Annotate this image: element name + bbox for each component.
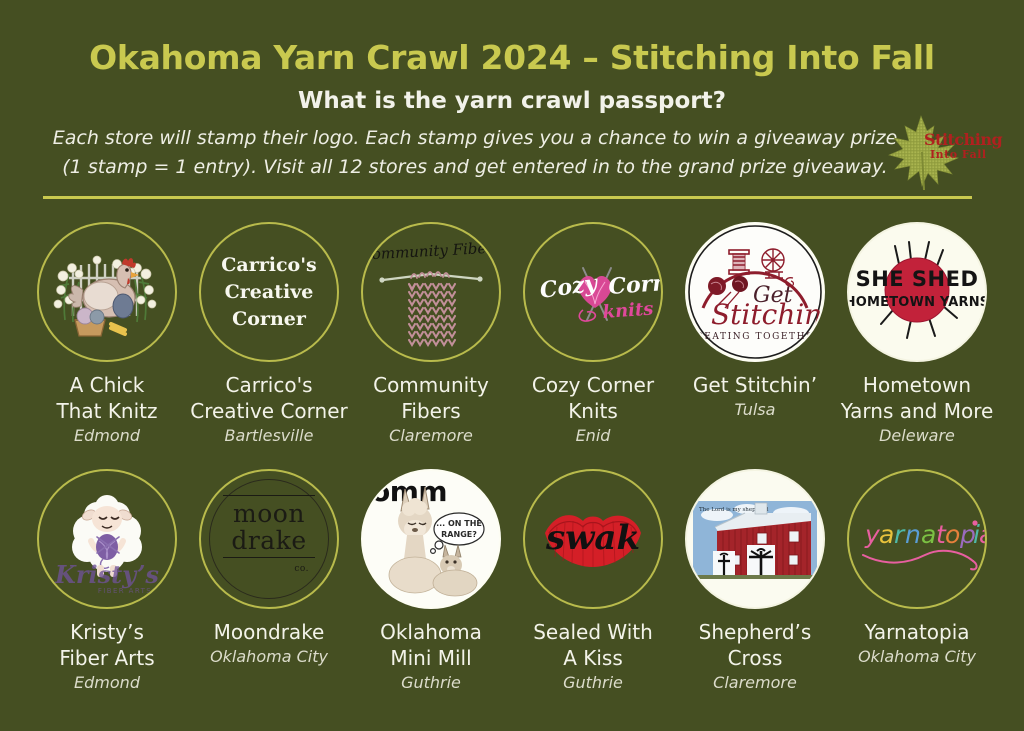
she-shed-text: SHE SHED xyxy=(856,267,979,291)
store-card-carricos-creative-corner[interactable]: Carrico's Creative Corner Carrico's Crea… xyxy=(196,222,342,447)
store-name-line-2: Mini Mill xyxy=(346,645,516,671)
swak-red-lips-icon: swak xyxy=(525,471,661,607)
store-name-line-2: Knits xyxy=(508,398,678,424)
wordmark-line-1: Carrico's xyxy=(221,252,316,279)
fall-logo-line-2: Into Fall xyxy=(924,148,994,161)
red-barn-photo-icon: The Lord is my shepherd xyxy=(687,471,823,607)
store-name-line-1: Moondrake xyxy=(184,619,354,645)
passport-description-line-1: Each store will stamp their logo. Each s… xyxy=(0,124,950,153)
store-caption: Hometown Yarns and More Deleware xyxy=(832,372,1002,447)
store-caption: Community Fibers Claremore xyxy=(346,372,516,447)
bubble-line-1: ... ON THE xyxy=(436,519,482,528)
store-name: Shepherd’s Cross xyxy=(670,619,840,671)
wordmark-line-3: Corner xyxy=(221,306,316,333)
store-name-line-2: Yarns and More xyxy=(832,398,1002,424)
store-name-line-2: Cross xyxy=(670,645,840,671)
hen-with-fence-and-flowers-icon xyxy=(39,224,175,360)
store-card-sealed-with-a-kiss[interactable]: swak Sealed With A Kiss Guthrie xyxy=(520,469,666,694)
store-logo-badge: Get Stitchin’ CREATING TOGETHER xyxy=(685,222,825,362)
page-title: Okahoma Yarn Crawl 2024 – Stitching Into… xyxy=(0,38,1024,77)
wordmark-line-3: co. xyxy=(223,556,315,583)
store-card-hometown-yarns-and-more[interactable]: SHE SHED HOMETOWN YARNS Hometown Yarns a… xyxy=(844,222,990,447)
store-card-a-chick-that-knitz[interactable]: A Chick That Knitz Edmond xyxy=(34,222,180,447)
store-name-line-2: Fibers xyxy=(346,398,516,424)
store-caption: Kristy’s Fiber Arts Edmond xyxy=(22,619,192,694)
knitting-needle-swatch-icon: Community Fibers xyxy=(363,224,499,360)
svg-text:FIBER ARTS: FIBER ARTS xyxy=(98,587,152,595)
store-logo-badge: omm ... ON THE RANGE? xyxy=(361,469,501,609)
store-name: Hometown Yarns and More xyxy=(832,372,1002,424)
store-name-line-2: Creative Corner xyxy=(184,398,354,424)
store-city: Tulsa xyxy=(670,399,840,421)
store-name-line-1: Cozy Corner xyxy=(508,372,678,398)
passport-description: Each store will stamp their logo. Each s… xyxy=(0,124,950,182)
store-logo-badge: moon drake co. xyxy=(199,469,339,609)
yarnatopia-colorful-wordmark-icon: y a r n a t o p i a xyxy=(849,471,985,607)
carricos-creative-corner-wordmark-icon: Carrico's Creative Corner xyxy=(221,252,316,333)
store-card-cozy-corner-knits[interactable]: Cozy Corner knits Cozy Corner Knits Eni xyxy=(520,222,666,447)
hometown-yarns-text: HOMETOWN YARNS xyxy=(849,295,985,310)
store-name: Sealed With A Kiss xyxy=(508,619,678,671)
store-name-line-1: Carrico's xyxy=(184,372,354,398)
store-name-line-1: A Chick xyxy=(22,372,192,398)
store-name-line-1: Sealed With xyxy=(508,619,678,645)
moondrake-rule-top xyxy=(223,495,315,496)
store-logo-badge: The Lord is my shepherd xyxy=(685,469,825,609)
store-grid: A Chick That Knitz Edmond Carrico's Crea… xyxy=(0,222,1024,694)
store-name: Yarnatopia xyxy=(832,619,1002,645)
store-name-line-1: Yarnatopia xyxy=(832,619,1002,645)
svg-text:o: o xyxy=(945,520,960,549)
store-caption: Yarnatopia Oklahoma City xyxy=(832,619,1002,668)
store-caption: Oklahoma Mini Mill Guthrie xyxy=(346,619,516,694)
poster-header: Okahoma Yarn Crawl 2024 – Stitching Into… xyxy=(0,0,1024,200)
svg-text:a: a xyxy=(921,520,936,549)
store-row-1: A Chick That Knitz Edmond Carrico's Crea… xyxy=(0,222,1024,447)
svg-text:Community Fibers: Community Fibers xyxy=(363,238,499,263)
store-name-line-1: Shepherd’s xyxy=(670,619,840,645)
store-name-line-2: A Kiss xyxy=(508,645,678,671)
store-caption: A Chick That Knitz Edmond xyxy=(22,372,192,447)
cozy-corner-knits-yarn-heart-icon: Cozy Corner knits xyxy=(525,224,661,360)
stitchin-text: Stitchin’ xyxy=(711,298,823,331)
store-city: Deleware xyxy=(832,425,1002,447)
svg-text:n: n xyxy=(905,520,921,549)
store-city: Enid xyxy=(508,425,678,447)
store-caption: Sealed With A Kiss Guthrie xyxy=(508,619,678,694)
section-subtitle: What is the yarn crawl passport? xyxy=(0,88,1024,114)
store-card-oklahoma-mini-mill[interactable]: omm ... ON THE RANGE? xyxy=(358,469,504,694)
store-name: Kristy’s Fiber Arts xyxy=(22,619,192,671)
svg-text:a: a xyxy=(979,520,985,549)
swak-text: swak xyxy=(545,518,640,558)
store-name-line-1: Community xyxy=(346,372,516,398)
store-name-line-1: Hometown xyxy=(832,372,1002,398)
knits-text: knits xyxy=(602,298,654,322)
store-city: Bartlesville xyxy=(184,425,354,447)
store-caption: Get Stitchin’ Tulsa xyxy=(670,372,840,421)
store-name-line-2: Fiber Arts xyxy=(22,645,192,671)
store-logo-badge: y a r n a t o p i a xyxy=(847,469,987,609)
store-name-line-2: That Knitz xyxy=(22,398,192,424)
fall-logo-line-1: Stitching xyxy=(924,132,994,148)
store-caption: Carrico's Creative Corner Bartlesville xyxy=(184,372,354,447)
store-city: Edmond xyxy=(22,425,192,447)
header-divider xyxy=(43,196,972,199)
store-card-community-fibers[interactable]: Community Fibers xyxy=(358,222,504,447)
store-logo-badge: Carrico's Creative Corner xyxy=(199,222,339,362)
passport-description-line-2: (1 stamp = 1 entry). Visit all 12 stores… xyxy=(0,153,950,182)
store-name: Cozy Corner Knits xyxy=(508,372,678,424)
wordmark-line-1: moon xyxy=(223,500,315,527)
store-city: Oklahoma City xyxy=(832,646,1002,668)
corner-text: Corner xyxy=(608,268,661,300)
store-caption: Shepherd’s Cross Claremore xyxy=(670,619,840,694)
store-city: Claremore xyxy=(346,425,516,447)
kristys-wordmark-text: Kristy’s xyxy=(54,560,159,589)
wordmark-line-2: drake xyxy=(223,527,315,554)
store-name: Get Stitchin’ xyxy=(670,372,840,398)
store-caption: Cozy Corner Knits Enid xyxy=(508,372,678,447)
store-logo-badge: SHE SHED HOMETOWN YARNS xyxy=(847,222,987,362)
bubble-line-2: RANGE? xyxy=(441,530,477,539)
store-city: Guthrie xyxy=(508,672,678,694)
store-name: Community Fibers xyxy=(346,372,516,424)
store-card-kristys-fiber-arts[interactable]: Kristy’s FIBER ARTS Kristy’s Fiber Arts … xyxy=(34,469,180,694)
store-name-line-1: Oklahoma xyxy=(346,619,516,645)
store-city: Edmond xyxy=(22,672,192,694)
store-name: Oklahoma Mini Mill xyxy=(346,619,516,671)
knitting-sheep-icon: Kristy’s FIBER ARTS xyxy=(39,471,175,607)
wordmark-line-2: Creative xyxy=(221,279,316,306)
stitching-into-fall-logo: Stitching Into Fall xyxy=(884,112,992,190)
passport-poster: Okahoma Yarn Crawl 2024 – Stitching Into… xyxy=(0,0,1024,731)
store-logo-badge: Community Fibers xyxy=(361,222,501,362)
svg-text:a: a xyxy=(879,520,894,549)
store-city: Guthrie xyxy=(346,672,516,694)
store-logo-badge: Cozy Corner knits xyxy=(523,222,663,362)
store-city: Claremore xyxy=(670,672,840,694)
store-logo-badge: swak xyxy=(523,469,663,609)
store-name: A Chick That Knitz xyxy=(22,372,192,424)
store-name: Moondrake xyxy=(184,619,354,645)
store-card-moondrake[interactable]: moon drake co. Moondrake Oklahoma City xyxy=(196,469,342,694)
store-row-2: Kristy’s FIBER ARTS Kristy’s Fiber Arts … xyxy=(0,469,1024,694)
store-city: Oklahoma City xyxy=(184,646,354,668)
store-name-line-1: Kristy’s xyxy=(22,619,192,645)
store-card-get-stitchin[interactable]: Get Stitchin’ CREATING TOGETHER Get Stit… xyxy=(682,222,828,447)
get-stitchin-spinning-wheel-icon: Get Stitchin’ CREATING TOGETHER xyxy=(687,224,823,360)
omm-alpaca-icon: omm ... ON THE RANGE? xyxy=(363,471,499,607)
store-logo-badge xyxy=(37,222,177,362)
store-card-yarnatopia[interactable]: y a r n a t o p i a xyxy=(844,469,990,694)
moondrake-co-wordmark-icon: moon drake co. xyxy=(223,495,315,583)
store-caption: Moondrake Oklahoma City xyxy=(184,619,354,668)
store-name-line-1: Get Stitchin’ xyxy=(670,372,840,398)
store-logo-badge: Kristy’s FIBER ARTS xyxy=(37,469,177,609)
store-card-shepherds-cross[interactable]: The Lord is my shepherd xyxy=(682,469,828,694)
she-shed-pincushion-icon: SHE SHED HOMETOWN YARNS xyxy=(849,224,985,360)
store-name: Carrico's Creative Corner xyxy=(184,372,354,424)
get-stitchin-tagline: CREATING TOGETHER xyxy=(687,332,822,342)
